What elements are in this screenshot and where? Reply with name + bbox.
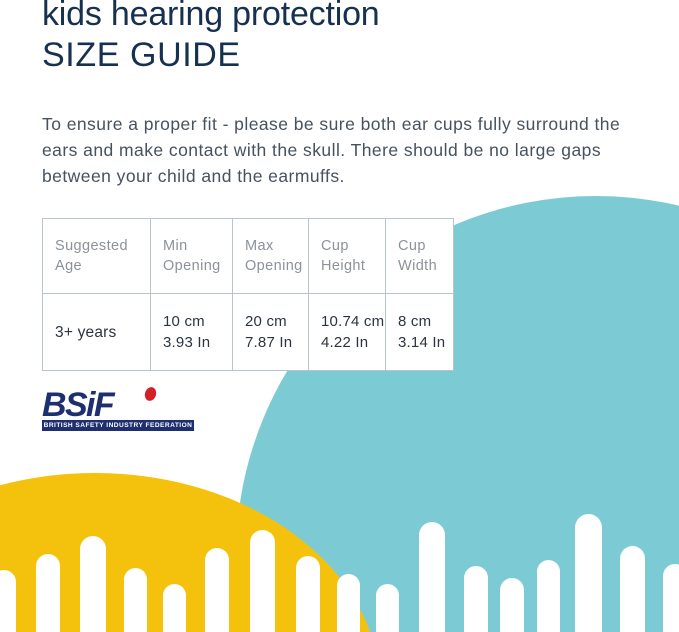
page-title: kids hearing protection SIZE GUIDE xyxy=(42,0,642,76)
cell-cup-height-cm: 10.74 cm xyxy=(321,311,385,332)
cell-max-opening-in: 7.87 In xyxy=(245,332,308,353)
header-max-opening-line1: Max xyxy=(245,236,308,256)
header-cup-height: Cup Height xyxy=(309,219,386,294)
page-title-line2: SIZE GUIDE xyxy=(42,35,642,76)
table-row: 3+ years 10 cm 3.93 In 20 cm 7.87 In 10.… xyxy=(43,294,454,371)
header-max-opening: Max Opening xyxy=(233,219,309,294)
content-layer: kids hearing protection SIZE GUIDE To en… xyxy=(0,0,679,632)
cell-max-opening-cm: 20 cm xyxy=(245,311,308,332)
intro-paragraph: To ensure a proper fit - please be sure … xyxy=(42,111,660,189)
cell-suggested-age: 3+ years xyxy=(43,294,151,371)
size-guide-table: Suggested Age Min Opening Max Opening Cu… xyxy=(42,218,454,371)
cell-cup-width: 8 cm 3.14 In xyxy=(386,294,454,371)
cell-cup-height-in: 4.22 In xyxy=(321,332,385,353)
bsif-red-dot-icon xyxy=(143,386,158,403)
size-guide-page: kids hearing protection SIZE GUIDE To en… xyxy=(0,0,679,632)
header-suggested-age: Suggested Age xyxy=(43,219,151,294)
cell-min-opening-in: 3.93 In xyxy=(163,332,232,353)
bsif-logo: BSiF BRITISH SAFETY INDUSTRY FEDERATION xyxy=(42,390,194,422)
header-cup-height-line1: Cup xyxy=(321,236,385,256)
page-title-line1: kids hearing protection xyxy=(42,0,642,35)
table-body: 3+ years 10 cm 3.93 In 20 cm 7.87 In 10.… xyxy=(43,294,454,371)
header-suggested-age-line1: Suggested xyxy=(55,236,150,256)
header-cup-height-line2: Height xyxy=(321,256,385,276)
bsif-tagline: BRITISH SAFETY INDUSTRY FEDERATION xyxy=(42,420,194,431)
table-header: Suggested Age Min Opening Max Opening Cu… xyxy=(43,219,454,294)
cell-min-opening-cm: 10 cm xyxy=(163,311,232,332)
bsif-wordmark: BSiF xyxy=(42,388,113,422)
header-min-opening: Min Opening xyxy=(151,219,233,294)
header-min-opening-line2: Opening xyxy=(163,256,232,276)
cell-max-opening: 20 cm 7.87 In xyxy=(233,294,309,371)
header-cup-width-line1: Cup xyxy=(398,236,453,256)
cell-cup-height: 10.74 cm 4.22 In xyxy=(309,294,386,371)
cell-cup-width-cm: 8 cm xyxy=(398,311,453,332)
header-suggested-age-line2: Age xyxy=(55,256,150,276)
cell-min-opening: 10 cm 3.93 In xyxy=(151,294,233,371)
header-min-opening-line1: Min xyxy=(163,236,232,256)
header-cup-width: Cup Width xyxy=(386,219,454,294)
bsif-logo-mark: BSiF BRITISH SAFETY INDUSTRY FEDERATION xyxy=(42,390,194,422)
cell-cup-width-in: 3.14 In xyxy=(398,332,453,353)
table-header-row: Suggested Age Min Opening Max Opening Cu… xyxy=(43,219,454,294)
header-max-opening-line2: Opening xyxy=(245,256,308,276)
header-cup-width-line2: Width xyxy=(398,256,453,276)
